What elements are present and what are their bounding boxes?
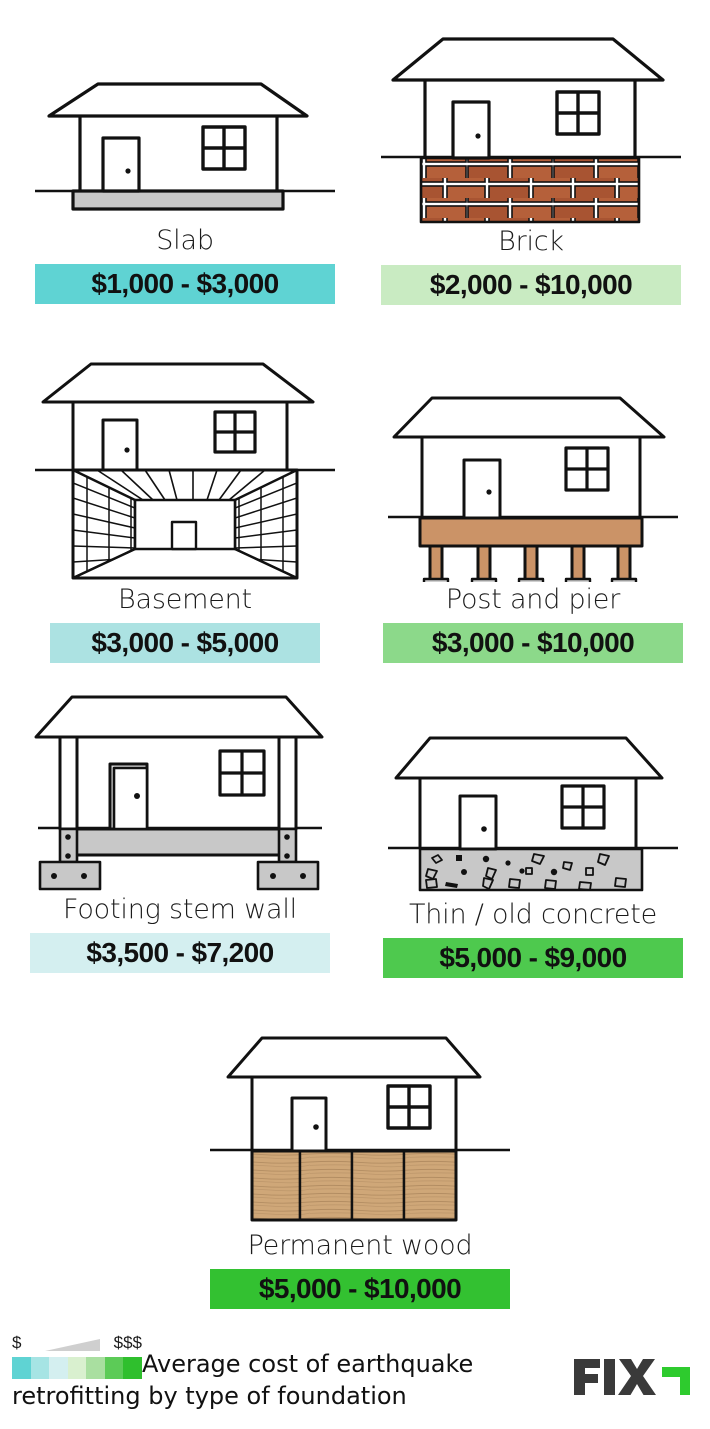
legend-swatch	[31, 1357, 50, 1379]
card-basement: Basement $3,000 - $5,000	[30, 352, 340, 663]
price-badge: $3,000 - $5,000	[50, 623, 320, 663]
legend-high-label: $$$	[114, 1333, 142, 1353]
card-thin-old-concrete: Thin / old concrete $5,000 - $9,000	[378, 732, 688, 978]
card-label: Slab	[156, 227, 214, 255]
fixr-logo	[572, 1353, 692, 1397]
infographic-root: Slab $1,000 - $3,000	[0, 0, 710, 1429]
footer-caption-line1: Average cost of earthquake	[142, 1349, 542, 1381]
card-label: Basement	[118, 586, 252, 614]
legend-swatch	[68, 1357, 87, 1379]
house-thin-old-concrete-foundation-icon	[388, 732, 678, 897]
legend-swatch	[12, 1357, 31, 1379]
card-label: Thin / old concrete	[409, 901, 657, 929]
footer: $ $$$ Average cost of earthquake retrofi…	[0, 1325, 710, 1429]
house-basement-foundation-icon	[35, 352, 335, 582]
legend-scale-labels: $ $$$	[12, 1333, 142, 1357]
footer-caption-line2: retrofitting by type of foundation	[12, 1381, 532, 1413]
footer-caption: Average cost of earthquake retrofitting …	[142, 1349, 542, 1381]
card-permanent-wood: Permanent wood $5,000 - $10,000	[200, 1032, 520, 1309]
house-slab-foundation-icon	[35, 78, 335, 223]
legend-swatch	[105, 1357, 124, 1379]
house-permanent-wood-foundation-icon	[210, 1032, 510, 1228]
house-post-and-pier-foundation-icon	[388, 382, 678, 582]
card-brick: Brick $2,000 - $10,000	[376, 24, 686, 305]
legend-wedge-icon	[45, 1338, 100, 1352]
legend-swatch	[49, 1357, 68, 1379]
legend-swatch	[123, 1357, 142, 1379]
price-badge: $1,000 - $3,000	[35, 264, 335, 304]
price-badge: $3,500 - $7,200	[30, 933, 330, 973]
card-label: Footing stem wall	[63, 896, 297, 924]
price-badge: $5,000 - $9,000	[383, 938, 683, 978]
price-badge: $5,000 - $10,000	[210, 1269, 510, 1309]
legend-swatch	[86, 1357, 105, 1379]
house-brick-foundation-icon	[381, 24, 681, 224]
card-label: Post and pier	[446, 586, 620, 614]
price-badge: $3,000 - $10,000	[383, 623, 683, 663]
house-footing-stem-wall-foundation-icon	[30, 692, 330, 892]
legend-swatches	[12, 1357, 142, 1379]
card-slab: Slab $1,000 - $3,000	[30, 78, 340, 304]
card-footing-stem-wall: Footing stem wall $3,500 - $7,200	[20, 692, 340, 973]
cost-legend: $ $$$	[12, 1333, 142, 1379]
card-label: Permanent wood	[248, 1232, 473, 1260]
legend-low-label: $	[12, 1333, 21, 1353]
price-badge: $2,000 - $10,000	[381, 265, 681, 305]
card-label: Brick	[498, 228, 564, 256]
card-post-and-pier: Post and pier $3,000 - $10,000	[378, 382, 688, 663]
